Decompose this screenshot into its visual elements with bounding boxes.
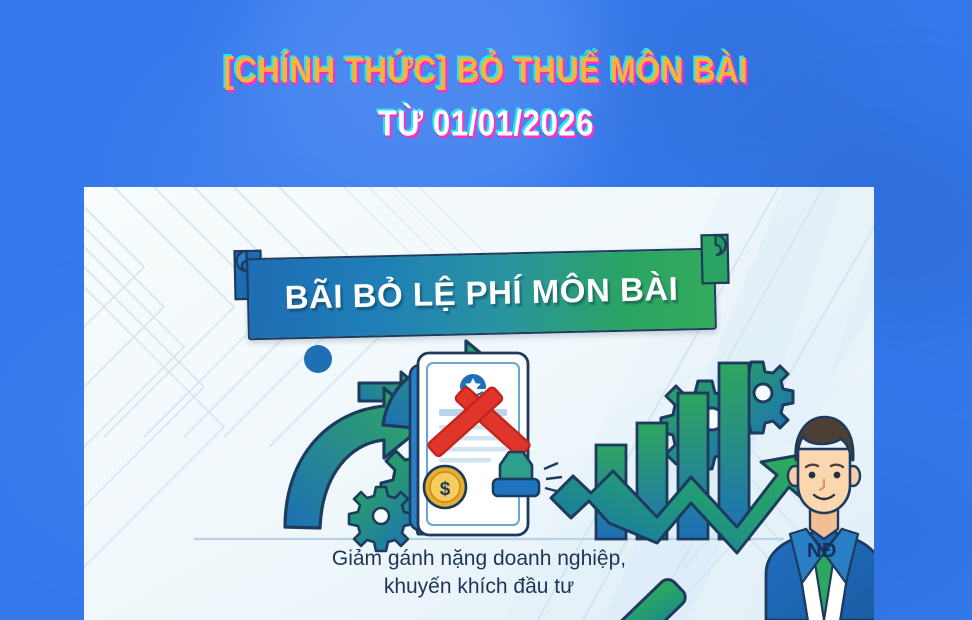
banner-ribbon: BÃI BỎ LỆ PHÍ MÔN BÀI	[229, 235, 734, 340]
decor-dot	[304, 345, 332, 373]
ribbon-curl-right-icon	[699, 231, 734, 288]
caption-line-1: Giảm gánh nặng doanh nghiệp,	[84, 545, 874, 573]
infographic-card: $	[84, 187, 874, 620]
rubber-stamp-icon	[493, 452, 562, 496]
certificate-document: $	[418, 353, 531, 535]
banner-title: BÃI BỎ LỆ PHÍ MÔN BÀI	[249, 269, 715, 318]
card-caption: Giảm gánh nặng doanh nghiệp, khuyến khíc…	[84, 545, 874, 602]
svg-text:$: $	[440, 479, 451, 500]
headline-line-1: [CHÍNH THỨC] BỎ THUẾ MÔN BÀI	[0, 52, 972, 89]
banner-ribbon-body: BÃI BỎ LỆ PHÍ MÔN BÀI	[246, 248, 717, 341]
headline: [CHÍNH THỨC] BỎ THUẾ MÔN BÀI TỪ 01/01/20…	[0, 52, 972, 136]
caption-line-2: khuyến khích đầu tư	[84, 573, 874, 601]
gear-small-icon	[349, 487, 413, 551]
gold-coin-dollar-icon: $	[424, 466, 466, 508]
headline-line-2: TỪ 01/01/2026	[0, 105, 972, 142]
